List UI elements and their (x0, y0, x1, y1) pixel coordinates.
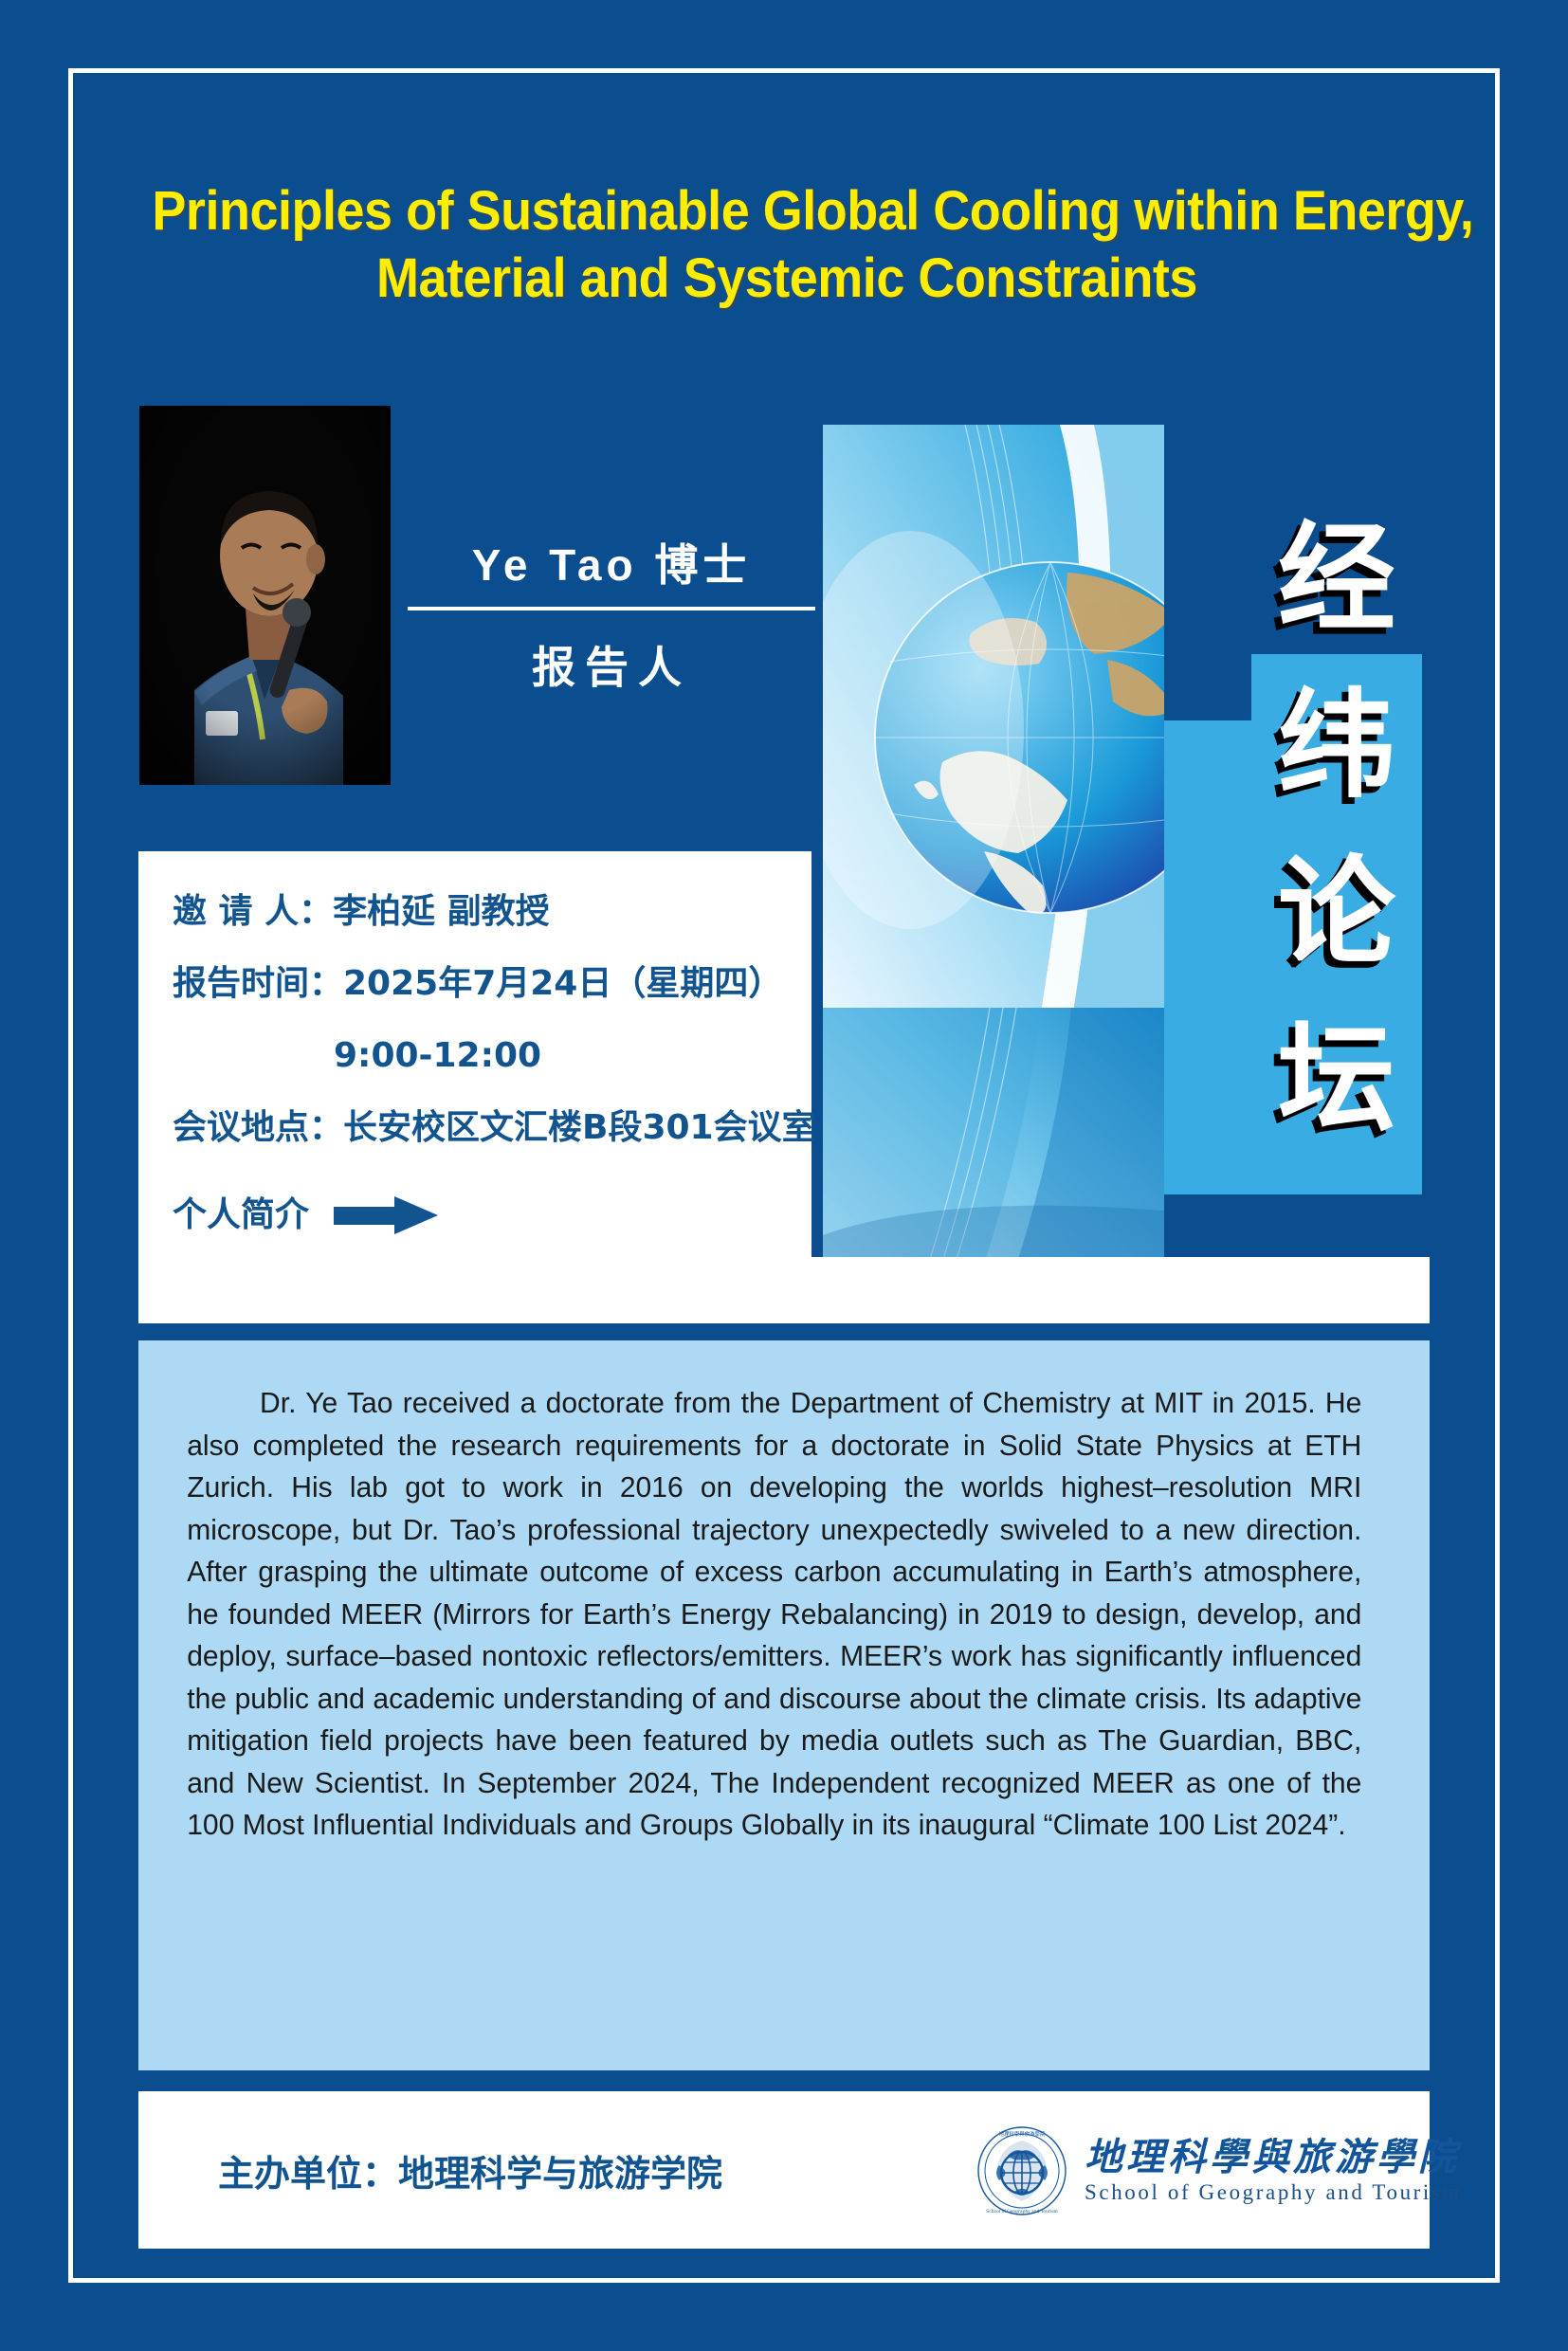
arrow-shaft (334, 1207, 400, 1225)
svg-text:School of Geography and Touris: School of Geography and Tourism (986, 2210, 1058, 2214)
forum-char-3: 论 (1251, 829, 1422, 996)
inviter-row: 邀 请 人：李柏延 副教授 (173, 895, 811, 929)
school-logo: 地理科學與旅游學院 School of Geography and Touris… (976, 2125, 1462, 2216)
speaker-portrait-illustration (139, 406, 391, 785)
svg-text:地理科學與旅游學院: 地理科學與旅游學院 (999, 2130, 1046, 2138)
school-logo-text: 地理科學與旅游學院 School of Geography and Touris… (1085, 2137, 1462, 2205)
white-separator-strip (138, 1257, 1430, 1323)
globe-graphic (823, 425, 1164, 1012)
forum-title-band: 经 纬 论 坛 (1251, 488, 1422, 1194)
title-line-1: Principles of Sustainable Global Cooling… (152, 178, 1421, 246)
forum-title-vertical: 经 纬 论 坛 (1251, 496, 1422, 1163)
forum-char-1: 经 (1251, 496, 1422, 663)
poster-root: Principles of Sustainable Global Cooling… (0, 0, 1568, 2351)
datetime-row: 报告时间：2025年7月24日（星期四） (173, 967, 811, 1001)
organizer-label: 主办单位：地理科学与旅游学院 (218, 2144, 722, 2196)
speaker-name: Ye Tao 博士 (408, 531, 815, 607)
speaker-photo (139, 406, 391, 785)
school-name-en: School of Geography and Tourism (1085, 2180, 1462, 2205)
forum-char-2: 纬 (1251, 663, 1422, 829)
accent-band-light-blue (1164, 720, 1251, 1194)
arrow-head (394, 1196, 438, 1234)
biography-block: Dr. Ye Tao received a doctorate from the… (138, 1340, 1430, 2070)
globe-seal-svg: 地理科學與旅游學院 School of Geography and Touris… (976, 2125, 1067, 2216)
poster-title: Principles of Sustainable Global Cooling… (152, 178, 1421, 313)
venue-row: 会议地点：长安校区文汇楼B段301会议室 (173, 1111, 811, 1145)
bio-heading-label: 个人简介 (173, 1198, 309, 1232)
globe-seal-icon: 地理科學與旅游學院 School of Geography and Touris… (976, 2125, 1067, 2216)
title-line-2: Material and Systemic Constraints (152, 246, 1421, 313)
bio-heading-row: 个人简介 (173, 1196, 811, 1234)
forum-char-4: 坛 (1251, 996, 1422, 1163)
speaker-name-block: Ye Tao 博士 报告人 (408, 531, 815, 696)
speaker-role: 报告人 (408, 611, 815, 696)
arrow-right-icon (334, 1196, 438, 1234)
globe-illustration (823, 425, 1164, 1012)
biography-text: Dr. Ye Tao received a doctorate from the… (138, 1340, 1411, 1847)
school-name-cn: 地理科學與旅游學院 (1085, 2137, 1462, 2178)
event-info-panel: 邀 请 人：李柏延 副教授 报告时间：2025年7月24日（星期四） 9:00-… (138, 851, 811, 1323)
time-range-row: 9:00-12:00 (173, 1039, 811, 1073)
